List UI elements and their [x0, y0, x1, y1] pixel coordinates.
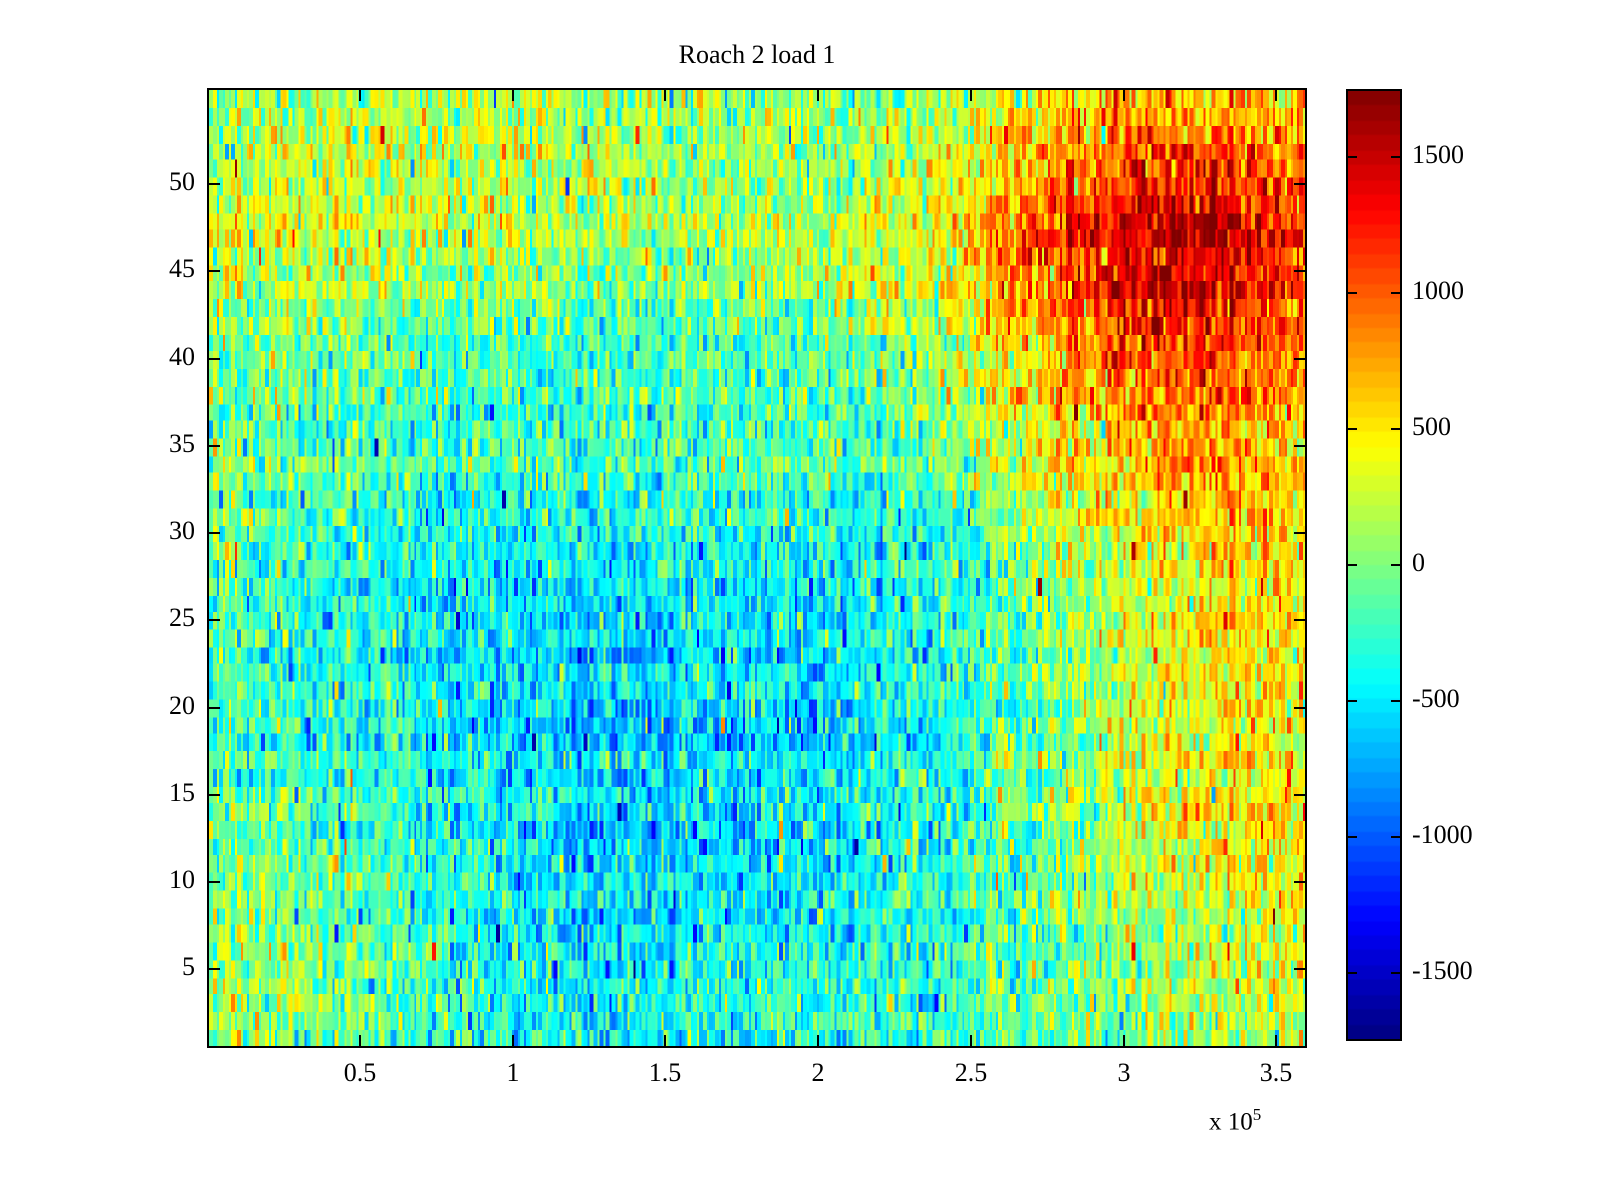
- x-axis-tick: [359, 1035, 361, 1048]
- x-axis-tick-label: 1.5: [615, 1060, 715, 1086]
- y-axis-tick-label: 30: [147, 518, 195, 544]
- colorbar-tick-mirror: [1391, 836, 1402, 838]
- colorbar-tick: [1346, 972, 1357, 974]
- y-axis-tick-mirror: [1294, 358, 1307, 360]
- colorbar-tick-label: 0: [1412, 550, 1425, 576]
- colorbar-tick: [1346, 836, 1357, 838]
- x-axis-tick-label: 1: [463, 1060, 563, 1086]
- y-axis-tick-mirror: [1294, 968, 1307, 970]
- colorbar-tick-mirror: [1391, 700, 1402, 702]
- colorbar-tick: [1346, 292, 1357, 294]
- x-axis-tick-label: 3: [1074, 1060, 1174, 1086]
- y-axis-tick-label: 10: [147, 867, 195, 893]
- colorbar-tick-mirror: [1391, 156, 1402, 158]
- heatmap-image: [209, 90, 1305, 1046]
- x-axis-tick-mirror: [512, 88, 514, 101]
- y-axis-tick-mirror: [1294, 183, 1307, 185]
- y-axis-tick-mirror: [1294, 794, 1307, 796]
- colorbar-tick-mirror: [1391, 292, 1402, 294]
- x-axis-exponent-power: 5: [1253, 1105, 1262, 1124]
- y-axis-tick: [207, 270, 220, 272]
- colorbar-tick-label: 1000: [1412, 278, 1464, 304]
- y-axis-tick-mirror: [1294, 707, 1307, 709]
- x-axis-exponent-base: x 10: [1209, 1108, 1253, 1135]
- y-axis-tick-mirror: [1294, 445, 1307, 447]
- colorbar-tick-mirror: [1391, 564, 1402, 566]
- y-axis-tick: [207, 968, 220, 970]
- colorbar-tick-mirror: [1391, 428, 1402, 430]
- x-axis-tick: [817, 1035, 819, 1048]
- x-axis-tick-label: 2.5: [921, 1060, 1021, 1086]
- colorbar-tick-label: -1000: [1412, 822, 1473, 848]
- y-axis-tick: [207, 619, 220, 621]
- x-axis-tick: [1275, 1035, 1277, 1048]
- x-axis-tick: [970, 1035, 972, 1048]
- x-axis-tick-mirror: [1275, 88, 1277, 101]
- colorbar-tick: [1346, 564, 1357, 566]
- colorbar-tick: [1346, 700, 1357, 702]
- colorbar-tick: [1346, 428, 1357, 430]
- y-axis-tick: [207, 183, 220, 185]
- y-axis-tick-label: 45: [147, 256, 195, 282]
- x-axis-tick-label: 3.5: [1226, 1060, 1326, 1086]
- y-axis-tick: [207, 794, 220, 796]
- colorbar-tick-mirror: [1391, 972, 1402, 974]
- heatmap-axes[interactable]: [207, 88, 1307, 1048]
- y-axis-tick-label: 40: [147, 344, 195, 370]
- y-axis-tick-mirror: [1294, 619, 1307, 621]
- page-title: Roach 2 load 1: [207, 42, 1307, 68]
- y-axis-tick: [207, 358, 220, 360]
- y-axis-tick-label: 5: [147, 954, 195, 980]
- y-axis-tick-mirror: [1294, 881, 1307, 883]
- colorbar-tick-label: 1500: [1412, 142, 1464, 168]
- x-axis-tick-label: 0.5: [310, 1060, 410, 1086]
- figure-canvas: Roach 2 load 1 5101520253035404550 0.511…: [0, 0, 1600, 1200]
- x-axis-tick-mirror: [359, 88, 361, 101]
- y-axis-tick-label: 35: [147, 431, 195, 457]
- y-axis-tick-label: 15: [147, 780, 195, 806]
- colorbar-tick: [1346, 156, 1357, 158]
- x-axis-tick: [512, 1035, 514, 1048]
- y-axis-tick-label: 25: [147, 605, 195, 631]
- y-axis-tick: [207, 445, 220, 447]
- x-axis-tick-mirror: [817, 88, 819, 101]
- x-axis-tick-label: 2: [768, 1060, 868, 1086]
- colorbar-tick-label: 500: [1412, 414, 1451, 440]
- x-axis-tick: [1123, 1035, 1125, 1048]
- y-axis-tick-label: 50: [147, 169, 195, 195]
- x-axis-tick: [664, 1035, 666, 1048]
- x-axis-tick-mirror: [1123, 88, 1125, 101]
- y-axis-tick: [207, 707, 220, 709]
- y-axis-tick-mirror: [1294, 270, 1307, 272]
- y-axis-tick-mirror: [1294, 532, 1307, 534]
- colorbar-tick-label: -500: [1412, 686, 1460, 712]
- colorbar-tick-label: -1500: [1412, 958, 1473, 984]
- y-axis-tick-label: 20: [147, 693, 195, 719]
- x-axis-exponent-label: x 105: [1209, 1106, 1261, 1134]
- y-axis-tick: [207, 532, 220, 534]
- x-axis-tick-mirror: [970, 88, 972, 101]
- y-axis-tick: [207, 881, 220, 883]
- x-axis-tick-mirror: [664, 88, 666, 101]
